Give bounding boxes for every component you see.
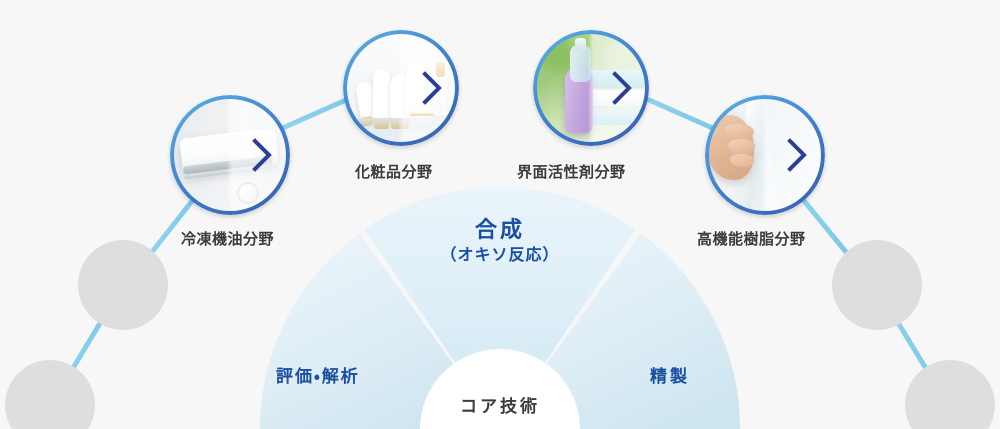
diagram-background bbox=[0, 0, 1000, 429]
node-label-cosmetics: 化粧品分野 bbox=[355, 161, 433, 182]
sector-label-synth-sub: （オキソ反応） bbox=[0, 246, 1000, 264]
sector-label-synth: 合成 （オキソ反応） bbox=[0, 219, 1000, 264]
node-label-high-performance-resin: 高機能樹脂分野 bbox=[697, 228, 806, 249]
detergent-towels-photo bbox=[537, 34, 645, 142]
node-label-surfactant: 界面活性剤分野 bbox=[517, 161, 626, 182]
sector-label-refine: 精製 bbox=[650, 362, 690, 387]
sector-label-synth-main: 合成 bbox=[475, 218, 525, 243]
node-high-performance-resin[interactable] bbox=[705, 95, 825, 215]
core-technology-label: コア技術 bbox=[0, 392, 1000, 417]
node-label-refrigeration-oil: 冷凍機油分野 bbox=[181, 228, 274, 249]
diagram-canvas: 合成 （オキソ反応） 評価・解析 精製 コア技術 bbox=[0, 0, 1000, 429]
node-surfactant[interactable] bbox=[533, 30, 649, 146]
sector-label-eval: 評価・解析 bbox=[276, 362, 360, 387]
link-n1-n2 bbox=[278, 96, 355, 130]
resin-film-photo bbox=[709, 99, 821, 211]
cosmetics-bottles-photo bbox=[347, 34, 455, 142]
link-n3-n4 bbox=[640, 96, 717, 130]
node-cosmetics[interactable] bbox=[343, 30, 459, 146]
node-refrigeration-oil[interactable] bbox=[170, 95, 290, 215]
air-conditioner-photo bbox=[174, 99, 286, 211]
